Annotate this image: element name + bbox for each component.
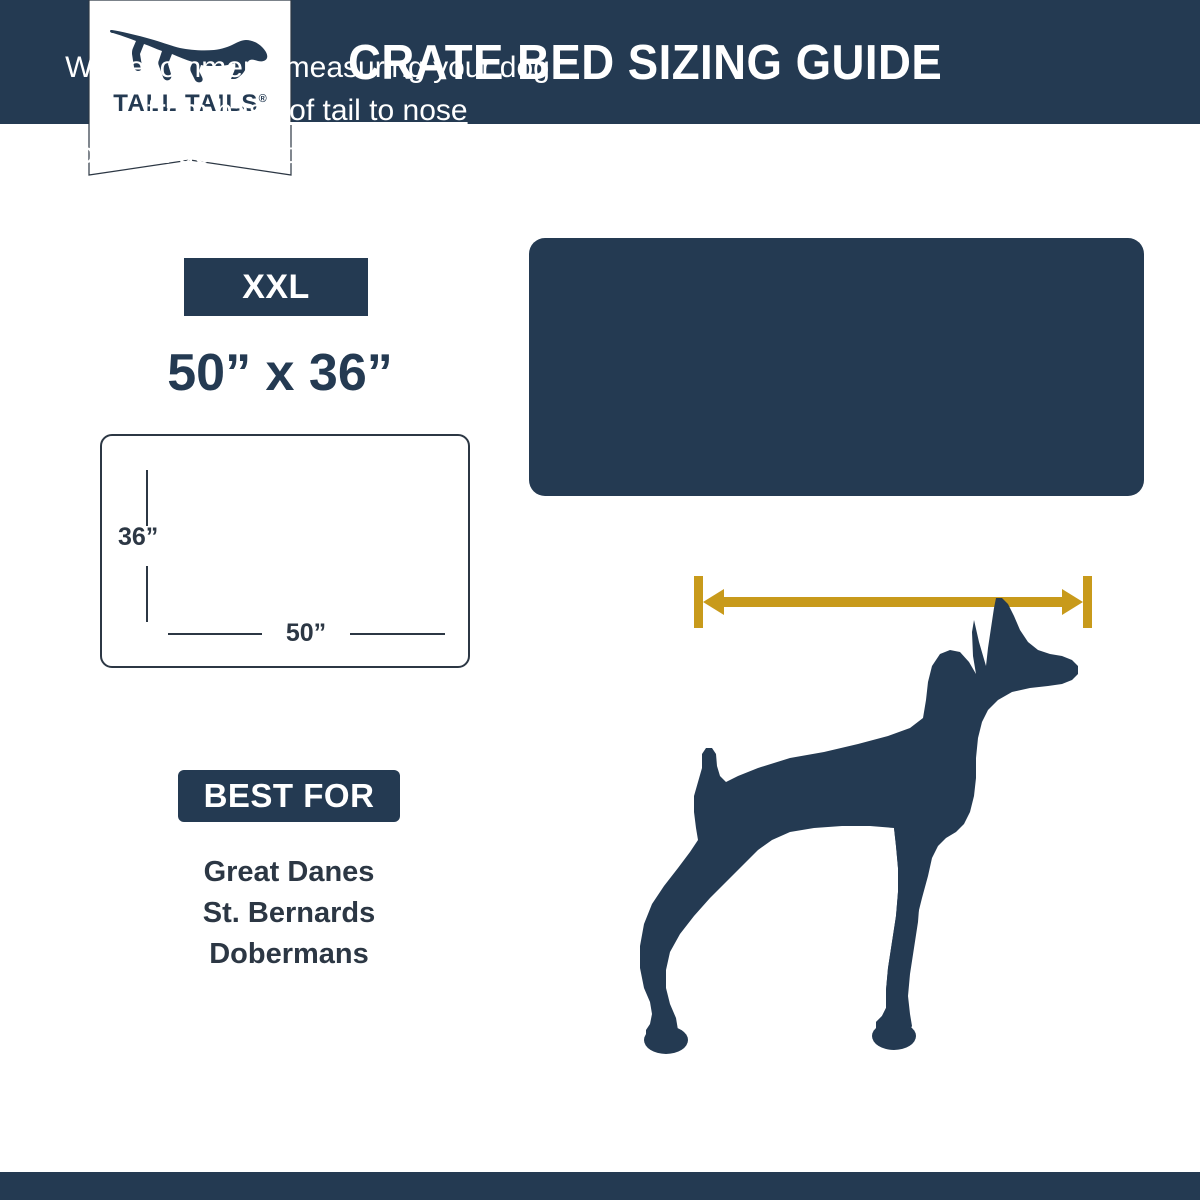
- sizing-guide-infographic: CRATE BED SIZING GUIDE TALL TAILS® XXL 5…: [0, 0, 1200, 1200]
- height-dimension-line-upper: [146, 470, 148, 526]
- best-for-breed-list: Great Danes St. Bernards Dobermans: [109, 852, 469, 975]
- size-badge-label: XXL: [184, 258, 368, 316]
- recommendation-line-3: to get a good estimate of which size: [69, 137, 546, 170]
- best-for-badge-label: BEST FOR: [178, 770, 400, 822]
- recommendation-panel: [529, 238, 1144, 496]
- width-dimension-line-left: [168, 633, 262, 635]
- size-dimensions: 50” x 36”: [100, 342, 460, 404]
- list-item: St. Bernards: [109, 893, 469, 934]
- width-dimension-label: 50”: [262, 618, 350, 648]
- footer-bar: [0, 1172, 1200, 1200]
- doberman-silhouette-icon: [638, 596, 1102, 1066]
- recommendation-line-4: is best for your dog!: [176, 180, 439, 213]
- width-dimension-line-right: [350, 633, 445, 635]
- recommendation-line-2-prefix: from: [147, 94, 215, 127]
- recommendation-text: We recommend measuring your dog from bas…: [24, 46, 591, 218]
- height-dimension-line-lower: [146, 566, 148, 622]
- height-dimension-label: 36”: [118, 522, 158, 552]
- recommendation-line-1: We recommend measuring your dog: [65, 51, 550, 84]
- list-item: Great Danes: [109, 852, 469, 893]
- size-badge: XXL: [184, 258, 368, 316]
- recommendation-emphasis: base of tail to nose: [216, 94, 468, 127]
- list-item: Dobermans: [109, 934, 469, 975]
- best-for-badge: BEST FOR: [178, 770, 400, 822]
